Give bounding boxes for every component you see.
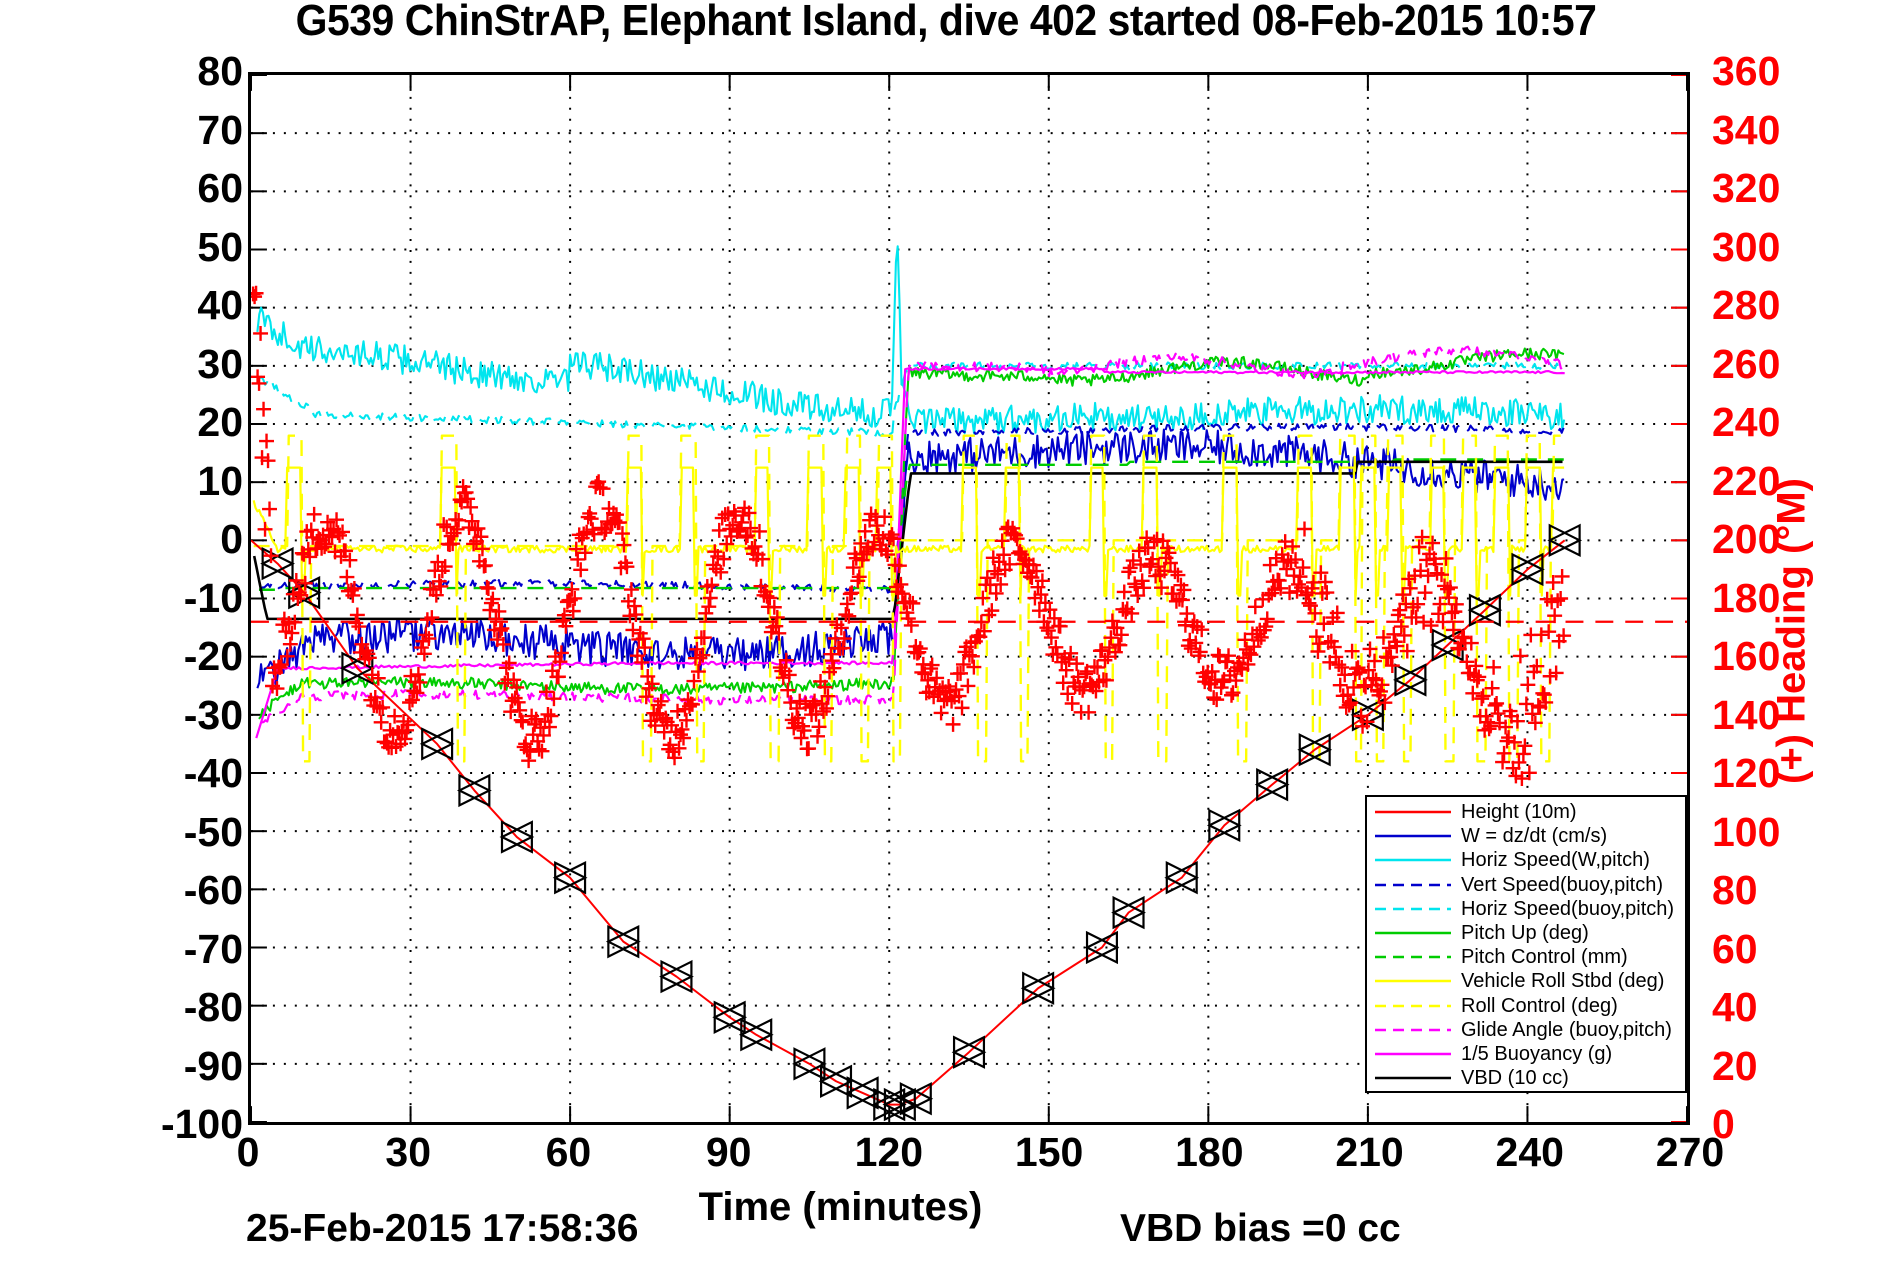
legend-item: Pitch Up (deg) <box>1367 921 1685 945</box>
x-tick: 270 <box>1590 1132 1790 1173</box>
legend-swatch-line <box>1374 999 1452 1013</box>
legend-swatch-line <box>1374 1047 1452 1061</box>
legend-swatch-line <box>1374 950 1452 964</box>
legend-item: W = dz/dt (cm/s) <box>1367 824 1685 848</box>
y-tick-left: -30 <box>43 695 243 736</box>
vbd-bias-note: VBD bias =0 cc <box>1120 1207 1401 1251</box>
y-tick-right: 60 <box>1712 929 1891 970</box>
legend-item: Horiz Speed(W,pitch) <box>1367 848 1685 872</box>
y-tick-left: 80 <box>43 51 243 92</box>
legend-swatch-line <box>1374 974 1452 988</box>
legend-swatch-line <box>1374 853 1452 867</box>
legend-item: VBD (10 cc) <box>1367 1066 1685 1090</box>
legend-item-label: Horiz Speed(W,pitch) <box>1461 850 1650 870</box>
legend-swatch-line <box>1374 1023 1452 1037</box>
legend-item-label: Height (10m) <box>1461 802 1577 822</box>
legend-item-label: Glide Angle (buoy,pitch) <box>1461 1020 1672 1040</box>
legend-item: Vehicle Roll Stbd (deg) <box>1367 969 1685 993</box>
y-tick-left: 40 <box>43 285 243 326</box>
legend-item: Vert Speed(buoy,pitch) <box>1367 873 1685 897</box>
legend-item: Height (10m) <box>1367 800 1685 824</box>
legend-item: 1/5 Buoyancy (g) <box>1367 1042 1685 1066</box>
legend-item-label: Vert Speed(buoy,pitch) <box>1461 875 1663 895</box>
y-tick-left: -70 <box>43 929 243 970</box>
y-tick-right: 340 <box>1712 110 1891 151</box>
y-tick-right: 240 <box>1712 402 1891 443</box>
y-tick-left: -50 <box>43 812 243 853</box>
y-tick-right: 100 <box>1712 812 1891 853</box>
y-tick-left: -60 <box>43 870 243 911</box>
y-tick-left: -20 <box>43 636 243 677</box>
y-tick-left: 60 <box>43 168 243 209</box>
legend-item-label: VBD (10 cc) <box>1461 1068 1569 1088</box>
legend-swatch-line <box>1374 926 1452 940</box>
y-tick-right: 20 <box>1712 1046 1891 1087</box>
legend-swatch-line <box>1374 805 1452 819</box>
y-tick-left: 20 <box>43 402 243 443</box>
y-tick-right: 320 <box>1712 168 1891 209</box>
legend-item-label: Vehicle Roll Stbd (deg) <box>1461 971 1664 991</box>
render-timestamp: 25-Feb-2015 17:58:36 <box>246 1207 638 1251</box>
legend-swatch-line <box>1374 878 1452 892</box>
y-tick-left: 70 <box>43 110 243 151</box>
legend-item: Glide Angle (buoy,pitch) <box>1367 1018 1685 1042</box>
y-tick-left: -40 <box>43 753 243 794</box>
page-title: G539 ChinStrAP, Elephant Island, dive 40… <box>53 0 1839 46</box>
y-tick-right: 360 <box>1712 51 1891 92</box>
y-axis-right-label: (+) Heading (°M) <box>1770 478 1815 784</box>
y-tick-right: 300 <box>1712 227 1891 268</box>
y-tick-left: -10 <box>43 578 243 619</box>
y-tick-right: 80 <box>1712 870 1891 911</box>
legend-item-label: W = dz/dt (cm/s) <box>1461 826 1607 846</box>
legend: Height (10m)W = dz/dt (cm/s)Horiz Speed(… <box>1365 795 1687 1093</box>
legend-item-label: Pitch Up (deg) <box>1461 923 1589 943</box>
legend-item-label: Pitch Control (mm) <box>1461 947 1628 967</box>
legend-item-label: 1/5 Buoyancy (g) <box>1461 1044 1612 1064</box>
y-tick-right: 40 <box>1712 987 1891 1028</box>
y-tick-left: 50 <box>43 227 243 268</box>
legend-swatch-line <box>1374 902 1452 916</box>
legend-item: Horiz Speed(buoy,pitch) <box>1367 897 1685 921</box>
legend-item: Roll Control (deg) <box>1367 994 1685 1018</box>
legend-item-label: Roll Control (deg) <box>1461 996 1618 1016</box>
y-tick-right: 280 <box>1712 285 1891 326</box>
y-tick-left: -90 <box>43 1046 243 1087</box>
legend-item-label: Horiz Speed(buoy,pitch) <box>1461 899 1674 919</box>
y-tick-left: 30 <box>43 344 243 385</box>
legend-swatch-line <box>1374 829 1452 843</box>
y-tick-right: 260 <box>1712 344 1891 385</box>
y-tick-left: -80 <box>43 987 243 1028</box>
legend-swatch-line <box>1374 1071 1452 1085</box>
legend-item: Pitch Control (mm) <box>1367 945 1685 969</box>
y-tick-left: 10 <box>43 461 243 502</box>
y-tick-left: 0 <box>43 519 243 560</box>
